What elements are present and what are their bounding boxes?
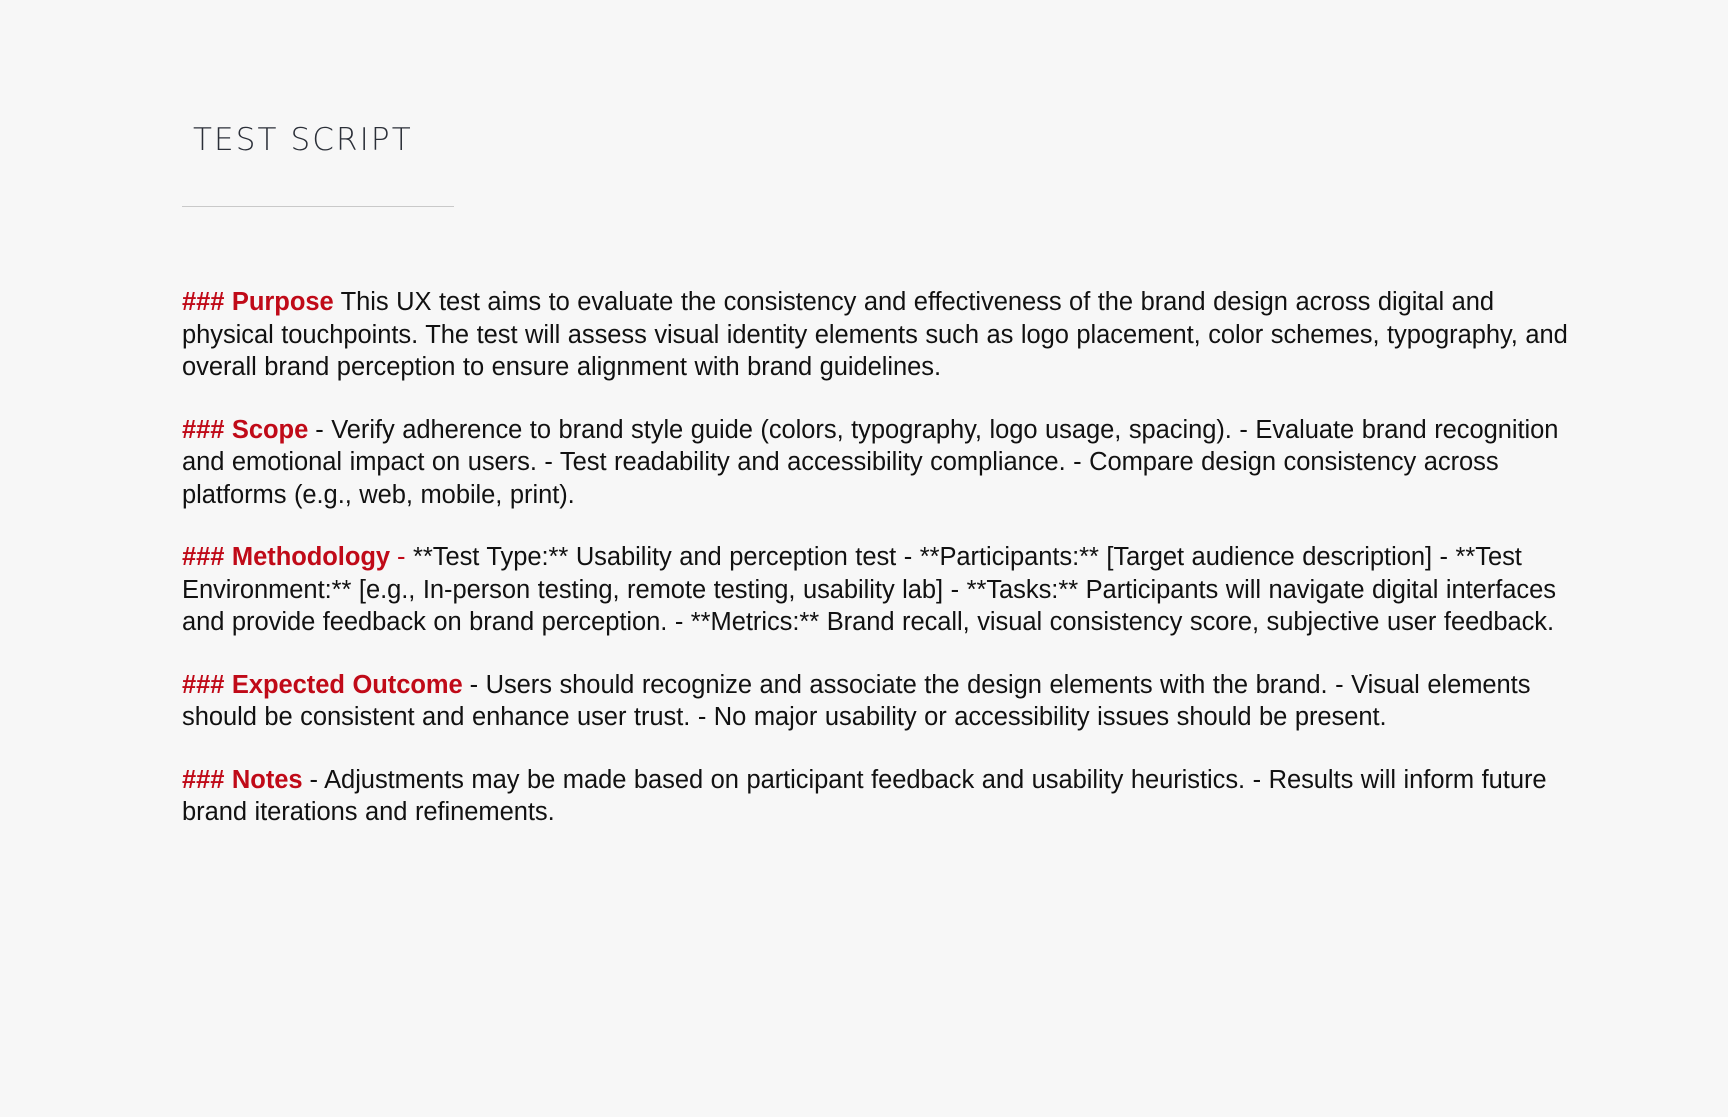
section-heading-purpose: ### Purpose — [182, 288, 334, 316]
section-heading-methodology: ### Methodology — [182, 543, 390, 571]
page-title: TEST SCRIPT — [193, 122, 413, 158]
section-text-scope: - Verify adherence to brand style guide … — [182, 416, 1558, 509]
section-text-notes: - Adjustments may be made based on parti… — [182, 766, 1547, 827]
section-heading-expected-outcome: ### Expected Outcome — [182, 671, 463, 699]
title-divider — [182, 206, 454, 207]
section-expected-outcome: ### Expected Outcome- Users should recog… — [182, 669, 1582, 734]
section-purpose: ### PurposeThis UX test aims to evaluate… — [182, 286, 1582, 384]
section-scope: ### Scope- Verify adherence to brand sty… — [182, 414, 1582, 512]
section-notes: ### Notes- Adjustments may be made based… — [182, 764, 1582, 829]
section-methodology: ### Methodology- **Test Type:** Usabilit… — [182, 541, 1582, 639]
section-heading-scope: ### Scope — [182, 416, 308, 444]
section-lead-dash-methodology: - — [397, 543, 405, 571]
section-heading-notes: ### Notes — [182, 766, 303, 794]
document-page: TEST SCRIPT ### PurposeThis UX test aims… — [0, 0, 1728, 1117]
section-text-purpose: This UX test aims to evaluate the consis… — [182, 288, 1568, 381]
document-body: ### PurposeThis UX test aims to evaluate… — [182, 286, 1582, 829]
